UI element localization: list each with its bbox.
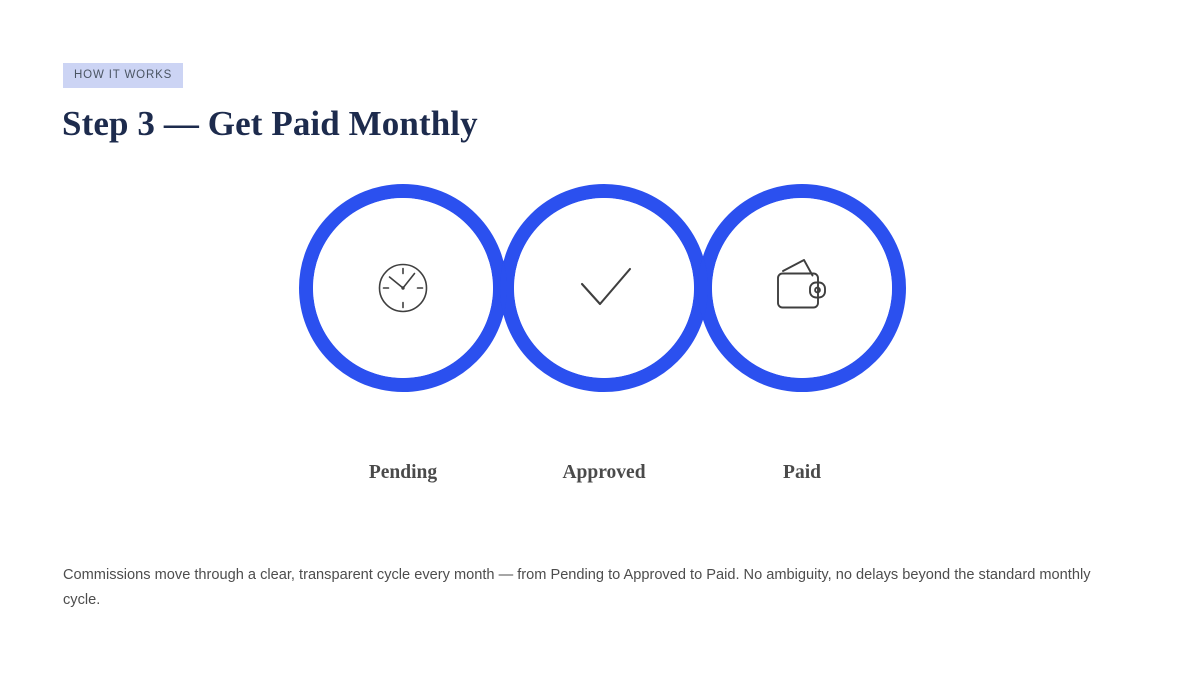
paid-inner-fill xyxy=(712,198,892,378)
body-paragraph: Commissions move through a clear, transp… xyxy=(63,563,1123,613)
process-diagram-svg xyxy=(282,168,922,413)
process-diagram xyxy=(282,168,922,413)
approved-inner-fill xyxy=(514,198,694,378)
step-labels: Pending Approved Paid xyxy=(0,458,1200,492)
slide-canvas: HOW IT WORKS Step 3 — Get Paid Monthly xyxy=(0,0,1200,675)
page-title: Step 3 — Get Paid Monthly xyxy=(62,101,478,147)
clock-icon xyxy=(380,265,427,312)
step-label-pending: Pending xyxy=(369,458,437,488)
step-label-approved: Approved xyxy=(562,458,645,488)
step-label-paid: Paid xyxy=(783,458,821,488)
eyebrow-badge: HOW IT WORKS xyxy=(63,63,183,88)
